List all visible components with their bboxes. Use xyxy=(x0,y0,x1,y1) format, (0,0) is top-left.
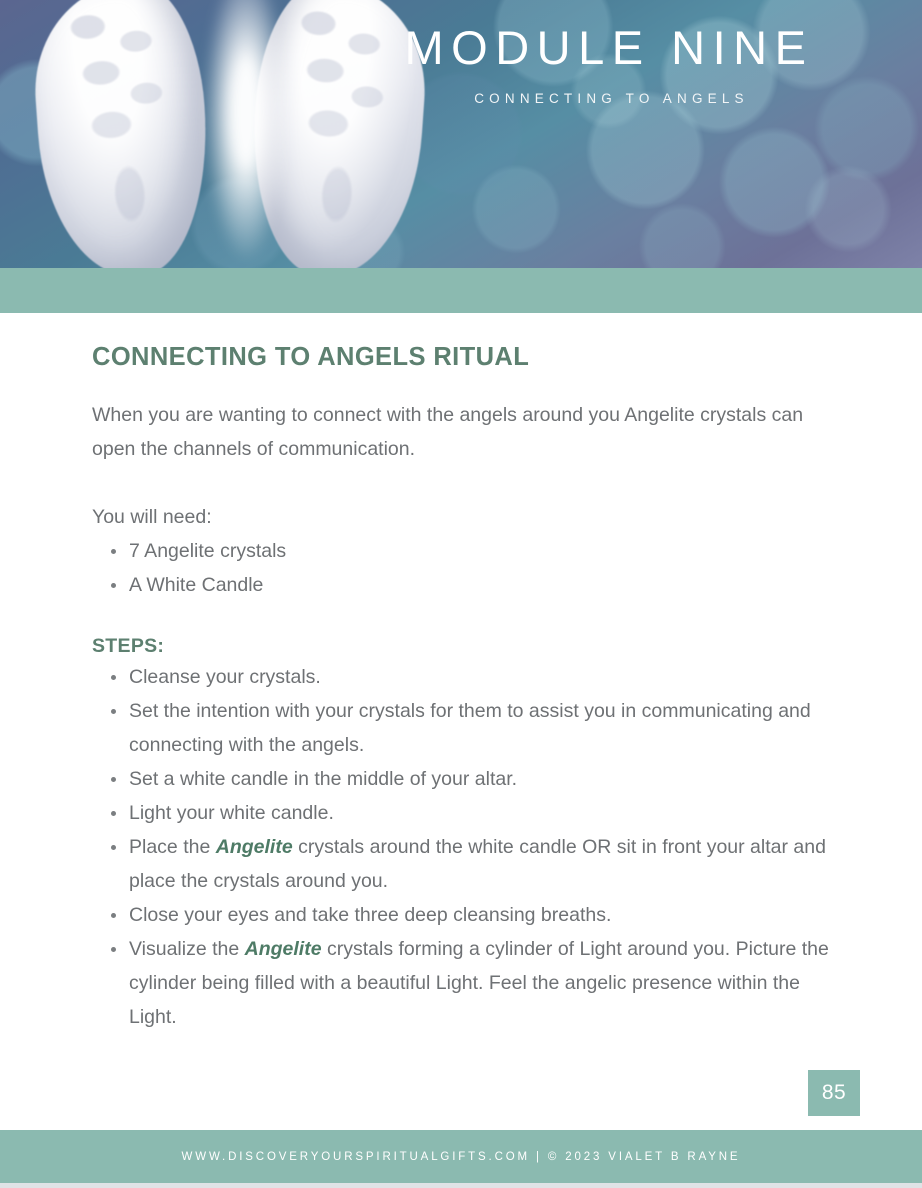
list-item: Light your white candle. xyxy=(92,796,830,830)
list-item: Place the Angelite crystals around the w… xyxy=(92,830,830,898)
section-heading: CONNECTING TO ANGELS RITUAL xyxy=(92,343,830,372)
steps-list: Cleanse your crystals.Set the intention … xyxy=(92,660,830,1034)
main-content: CONNECTING TO ANGELS RITUAL When you are… xyxy=(0,313,922,1034)
needs-label: You will need: xyxy=(92,500,830,534)
angel-wings-icon xyxy=(30,0,430,268)
footer-copyright-text: WWW.DISCOVERYOURSPIRITUALGIFTS.COM | © 2… xyxy=(182,1151,741,1163)
bottom-edge-strip xyxy=(0,1183,922,1188)
step-text: Set a white candle in the middle of your… xyxy=(129,768,517,790)
module-subtitle: CONNECTING TO ANGELS xyxy=(374,91,849,106)
intro-paragraph: When you are wanting to connect with the… xyxy=(92,398,812,466)
list-item: Cleanse your crystals. xyxy=(92,660,830,694)
step-text: Close your eyes and take three deep clea… xyxy=(129,904,611,926)
feather-texture-decoration xyxy=(28,0,216,268)
list-item: A White Candle xyxy=(92,568,830,602)
step-text: Set the intention with your crystals for… xyxy=(129,700,811,756)
hero-title-block: MODULE NINE CONNECTING TO ANGELS xyxy=(374,22,844,106)
emphasized-term: Angelite xyxy=(216,836,293,858)
document-page: MODULE NINE CONNECTING TO ANGELS CONNECT… xyxy=(0,0,922,1188)
footer-bar: WWW.DISCOVERYOURSPIRITUALGIFTS.COM | © 2… xyxy=(0,1130,922,1183)
teal-divider-bar xyxy=(0,268,922,313)
hero-header: MODULE NINE CONNECTING TO ANGELS xyxy=(0,0,922,268)
step-text: Visualize the xyxy=(129,938,245,960)
list-item: Visualize the Angelite crystals forming … xyxy=(92,932,830,1034)
angel-wing-left-icon xyxy=(28,0,216,268)
needs-list: 7 Angelite crystalsA White Candle xyxy=(92,534,830,602)
light-beam-icon xyxy=(198,0,294,268)
page-number-badge: 85 xyxy=(808,1070,860,1116)
paragraph-spacer xyxy=(92,466,830,500)
list-item: 7 Angelite crystals xyxy=(92,534,830,568)
page-number-label: 85 xyxy=(822,1081,846,1105)
emphasized-term: Angelite xyxy=(245,938,322,960)
steps-label: STEPS: xyxy=(92,635,830,658)
step-text: Cleanse your crystals. xyxy=(129,666,321,688)
list-item: Set the intention with your crystals for… xyxy=(92,694,830,762)
list-item: Set a white candle in the middle of your… xyxy=(92,762,830,796)
list-item: Close your eyes and take three deep clea… xyxy=(92,898,830,932)
step-text: Light your white candle. xyxy=(129,802,334,824)
module-title: MODULE NINE xyxy=(374,22,844,75)
step-text: Place the xyxy=(129,836,216,858)
